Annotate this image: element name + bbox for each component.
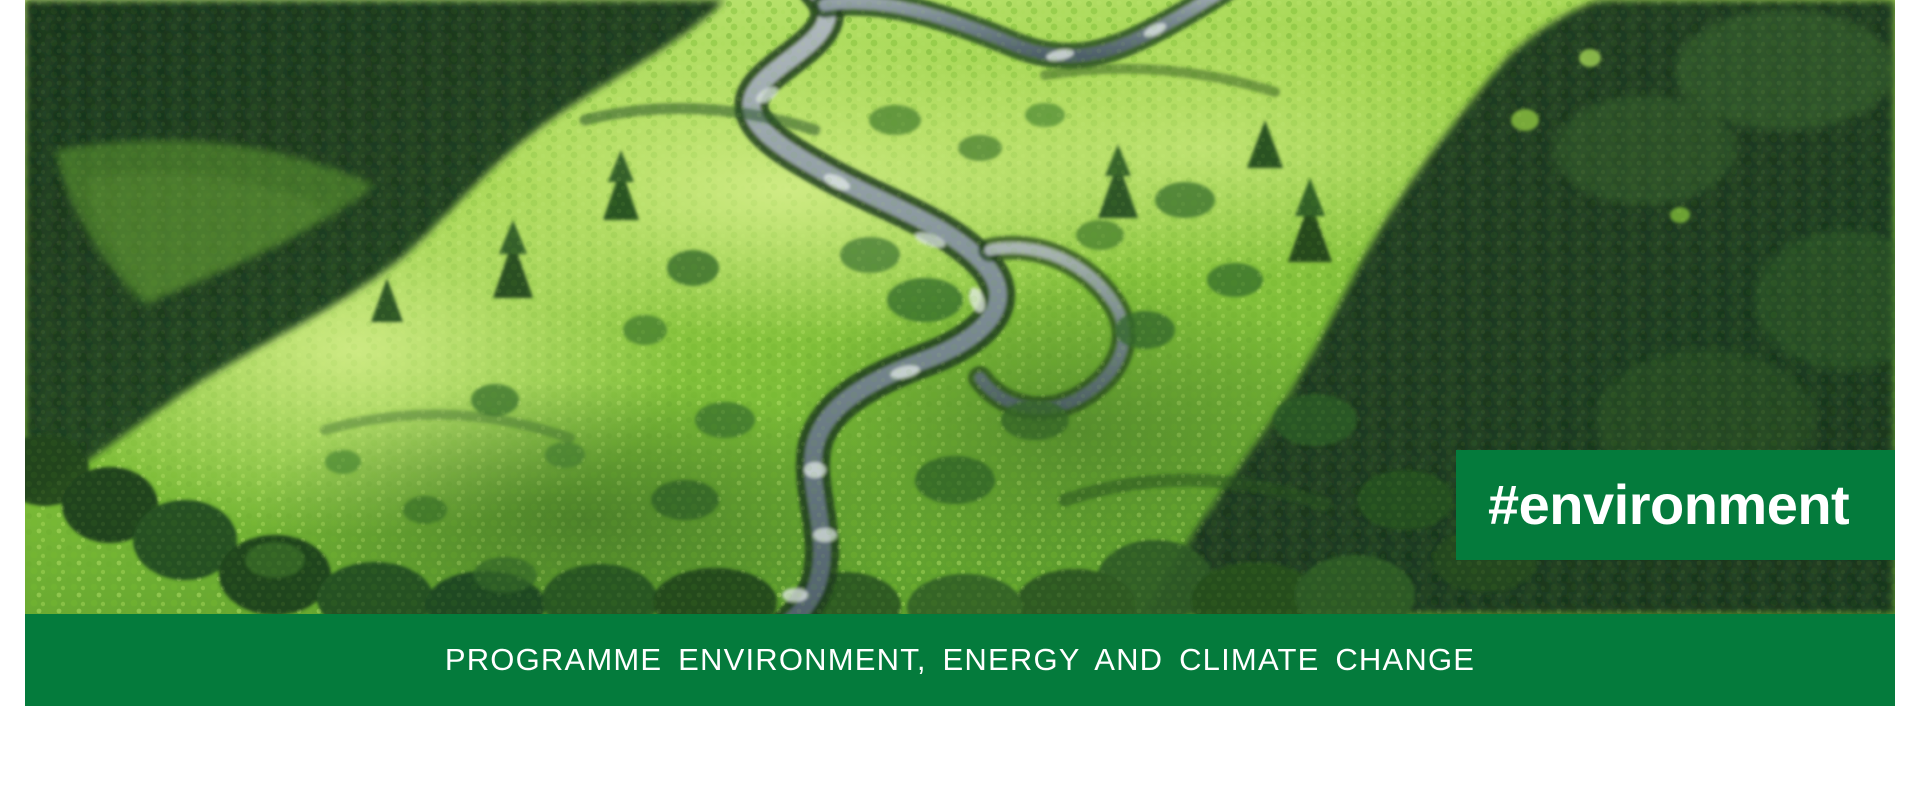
programme-title-bar: PROGRAMME ENVIRONMENT, ENERGY AND CLIMAT… [25,614,1895,706]
programme-title: PROGRAMME ENVIRONMENT, ENERGY AND CLIMAT… [445,642,1475,678]
slide-root: #environment PROGRAMME ENVIRONMENT, ENER… [0,0,1920,810]
hashtag-label: #environment [1488,477,1849,533]
hashtag-badge: #environment [1456,450,1895,560]
footer: Iceland Liechtenstein Norway grants [0,706,1920,810]
